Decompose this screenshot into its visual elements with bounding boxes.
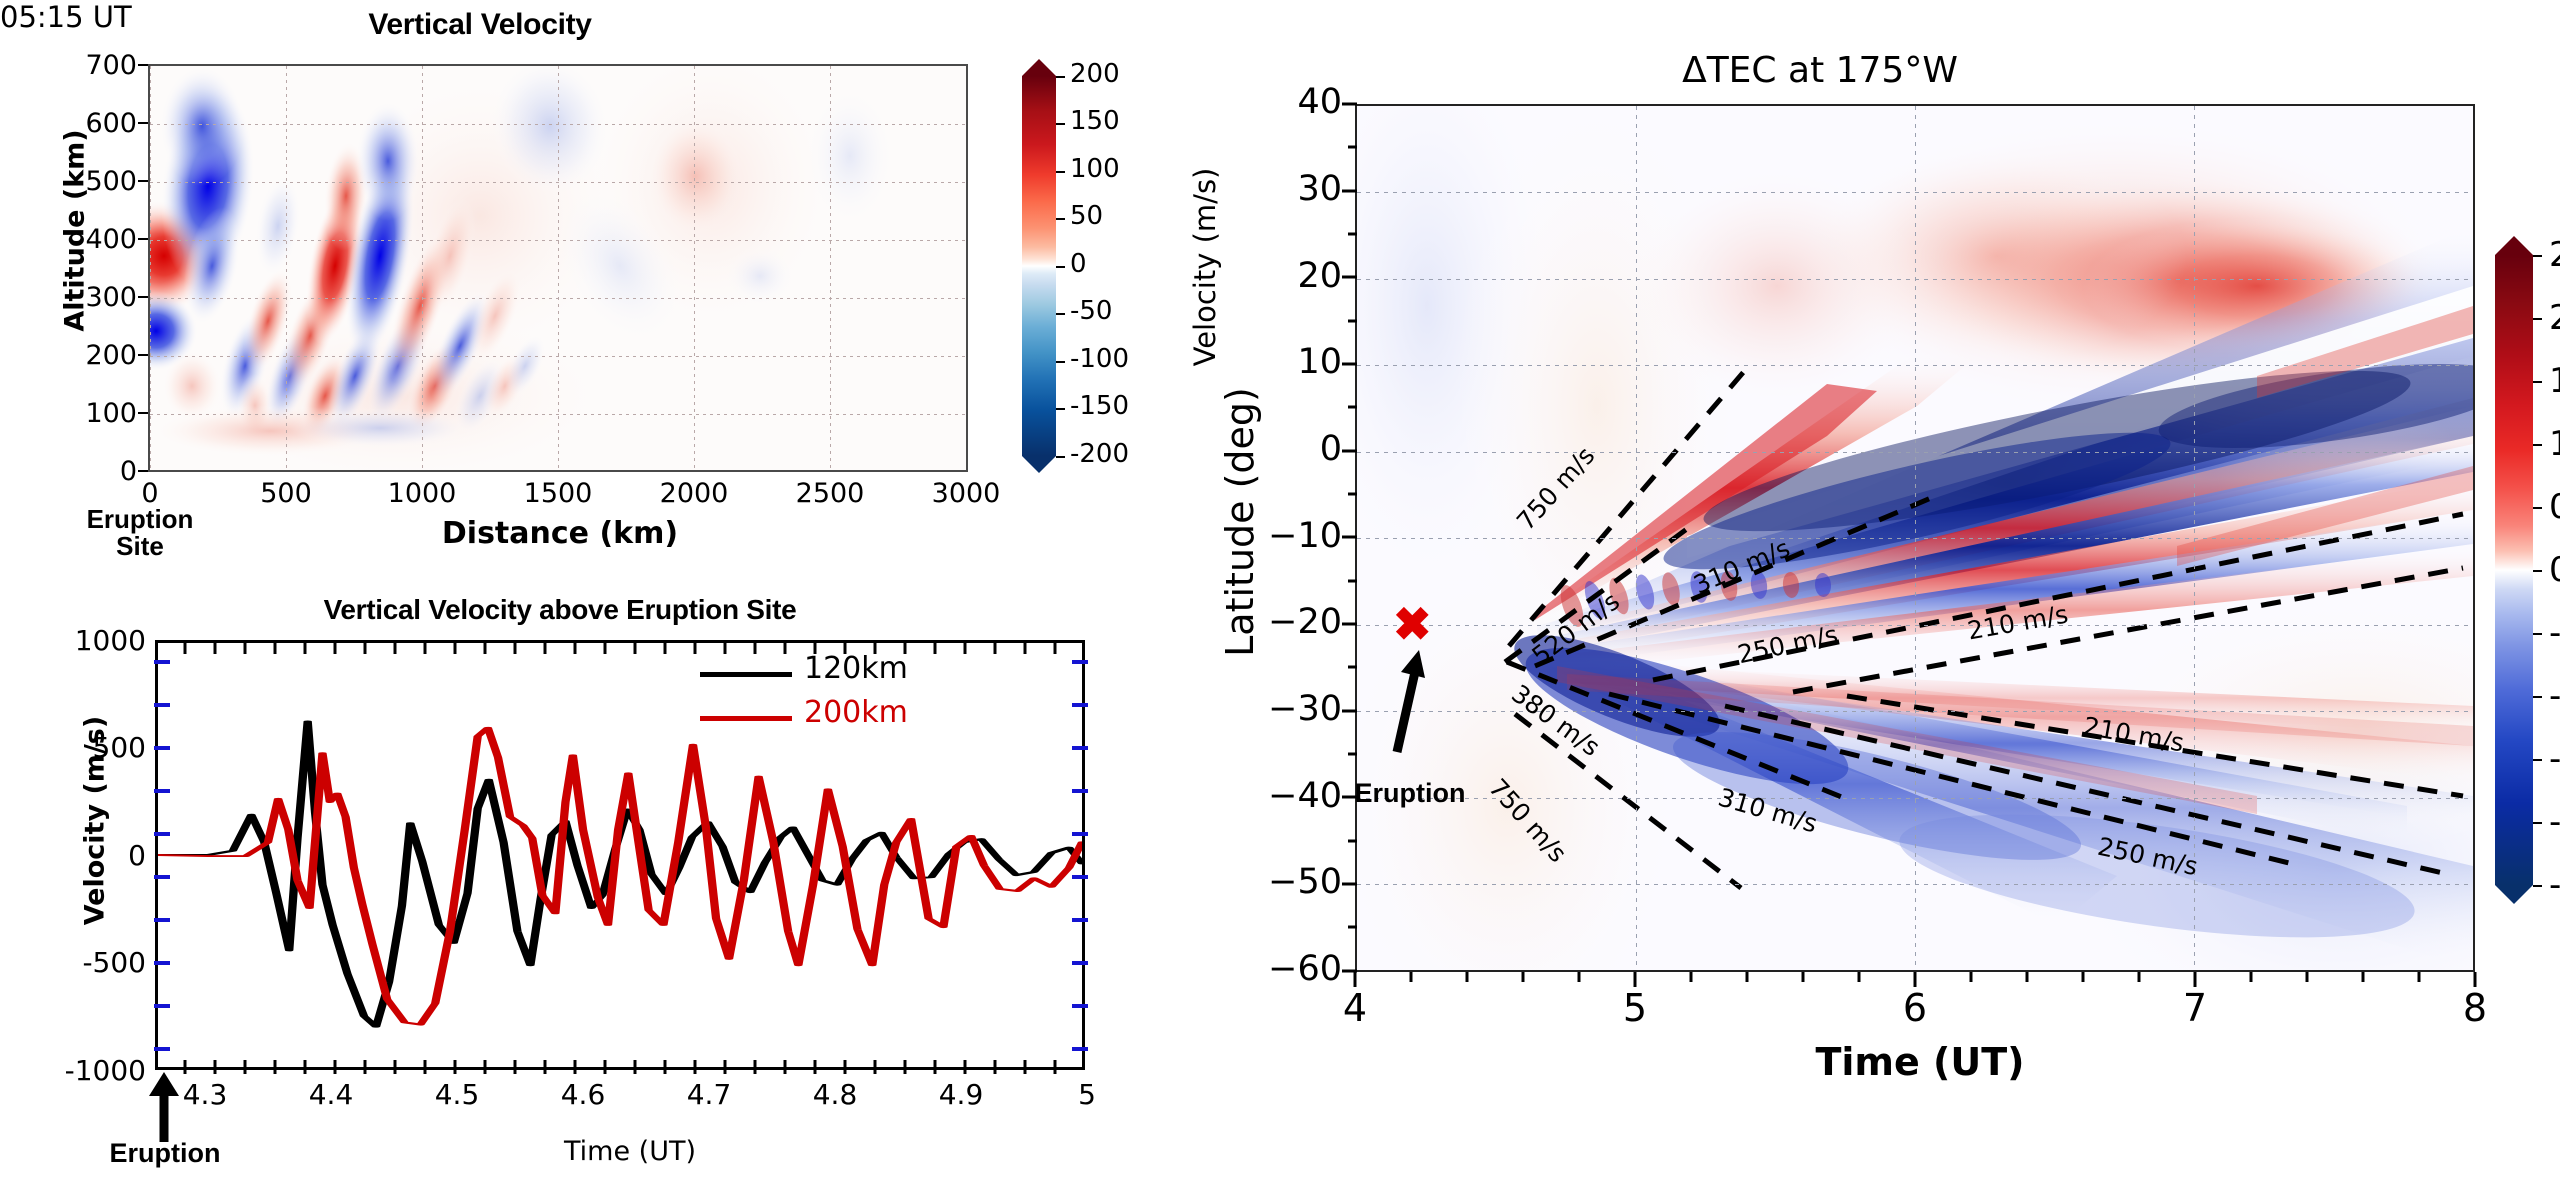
panel-b-xtick: 4.9 bbox=[916, 1078, 1006, 1111]
panel-c-gridline-h bbox=[1357, 538, 2473, 539]
panel-vertical-velocity: Vertical Velocity 05:15 UT bbox=[0, 0, 1120, 600]
panel-b-xtick: 4.7 bbox=[664, 1078, 754, 1111]
panel-a-xtick: 1000 bbox=[377, 478, 467, 509]
panel-c-xtick: 4 bbox=[1305, 986, 1405, 1030]
colorbar-a-tick: 50 bbox=[1070, 201, 1103, 231]
panel-a-xtick: 500 bbox=[241, 478, 331, 509]
panel-a-gridline-h bbox=[150, 240, 966, 241]
panel-b-ytick: -1000 bbox=[18, 1054, 146, 1087]
colorbar-c-cap-bottom bbox=[2495, 885, 2533, 904]
eruption-pointer-arrow-icon bbox=[1379, 646, 1439, 756]
panel-a-ytick-mark bbox=[138, 64, 148, 66]
legend-label-200km: 200km bbox=[804, 695, 908, 730]
panel-c-gridline-h bbox=[1357, 279, 2473, 280]
colorbar-a-tick: -200 bbox=[1070, 439, 1129, 469]
panel-c-y-axis-label: Latitude (deg) bbox=[1218, 322, 1262, 722]
colorbar-a-tick: 100 bbox=[1070, 154, 1120, 184]
panel-b-xtick: 4.6 bbox=[538, 1078, 628, 1111]
colorbar-c-tick: 1.5 bbox=[2549, 361, 2560, 401]
colorbar-c-tick: -0.5 bbox=[2549, 613, 2560, 653]
panel-a-gridline-v bbox=[558, 66, 559, 470]
legend-swatch-120km bbox=[700, 672, 792, 677]
panel-b-xtick: 4.5 bbox=[412, 1078, 502, 1111]
panel-b-x-axis-label: Time (UT) bbox=[450, 1136, 810, 1167]
panel-c-xtick: 6 bbox=[1865, 986, 1965, 1030]
panel-c-gridline-h bbox=[1357, 884, 2473, 885]
panel-c-ytick: 0 bbox=[1190, 429, 1342, 469]
panel-b-xtick: 4.4 bbox=[286, 1078, 376, 1111]
legend-swatch-200km bbox=[700, 716, 792, 721]
panel-c-ytick: 40 bbox=[1190, 82, 1342, 122]
panel-c-ytick: −10 bbox=[1190, 516, 1342, 556]
panel-a-xtick: 2500 bbox=[785, 478, 875, 509]
panel-a-gridline-v bbox=[150, 66, 151, 470]
colorbar-a-tick: -50 bbox=[1070, 296, 1112, 326]
panel-a-y-axis-label: Altitude (km) bbox=[60, 101, 91, 361]
panel-a-ytick: 100 bbox=[42, 398, 137, 429]
panel-a-xtick: 1500 bbox=[513, 478, 603, 509]
colorbar-a-cap-bottom bbox=[1022, 456, 1056, 473]
colorbar-c-tick: -2.5 bbox=[2549, 865, 2560, 905]
colorbar-c-gradient bbox=[2495, 255, 2533, 885]
panel-a-ytick-mark bbox=[138, 238, 148, 240]
colorbar-c-tick: 2.0 bbox=[2549, 298, 2560, 338]
colorbar-a-cap-top bbox=[1022, 59, 1056, 76]
colorbar-a-tick: 200 bbox=[1070, 59, 1120, 89]
panel-c-ytick: 10 bbox=[1190, 342, 1342, 382]
panel-a-gridline-v bbox=[286, 66, 287, 470]
panel-c-y-tick-marks bbox=[1340, 100, 1358, 980]
panel-a-gridline-h bbox=[150, 182, 966, 183]
eruption-site-line1: Eruption bbox=[87, 504, 194, 534]
panel-b-legend: 120km 200km bbox=[700, 652, 950, 740]
panel-a-ytick-mark bbox=[138, 412, 148, 414]
panel-c-ytick: −40 bbox=[1190, 776, 1342, 816]
panel-b-minor-y-ticks bbox=[152, 640, 1092, 1070]
colorbar-c-tick: 2.5 bbox=[2549, 235, 2560, 275]
eruption-marker-icon: ✖ bbox=[1393, 601, 1432, 647]
panel-a-gridline-v bbox=[694, 66, 695, 470]
colorbar-c-tick: 0.0 bbox=[2549, 550, 2560, 590]
colorbar-c-tick: -1.0 bbox=[2549, 676, 2560, 716]
panel-c-ytick: −60 bbox=[1190, 949, 1342, 989]
legend-item-120km: 120km bbox=[700, 652, 950, 696]
panel-c-ytick: 30 bbox=[1190, 169, 1342, 209]
panel-c-ytick: −20 bbox=[1190, 602, 1342, 642]
panel-c-title: ΔTEC at 175°W bbox=[1470, 50, 2170, 91]
panel-a-x-axis-label: Distance (km) bbox=[360, 516, 760, 551]
panel-a-gridline-h bbox=[150, 298, 966, 299]
legend-label-120km: 120km bbox=[804, 651, 908, 686]
panel-a-title: Vertical Velocity bbox=[180, 8, 780, 42]
colorbar-c-cap-top bbox=[2495, 236, 2533, 255]
colorbar-a-tick: 0 bbox=[1070, 249, 1087, 279]
colorbar-c-tick: -2.0 bbox=[2549, 802, 2560, 842]
panel-a-ytick-mark bbox=[138, 122, 148, 124]
panel-a-colorbar: 200 150 100 50 0 -50 -100 -150 -200 bbox=[1022, 76, 1056, 456]
colorbar-a-tick: 150 bbox=[1070, 106, 1120, 136]
panel-c-xtick: 8 bbox=[2425, 986, 2525, 1030]
panel-c-ytick: −50 bbox=[1190, 862, 1342, 902]
panel-b-ytick: 1000 bbox=[18, 624, 146, 657]
panel-c-gridline-h bbox=[1357, 625, 2473, 626]
panel-delta-tec: ΔTEC at 175°W bbox=[1150, 0, 2560, 1200]
panel-a-ytick-mark bbox=[138, 470, 148, 472]
eruption-arrow-icon bbox=[140, 1072, 200, 1144]
panel-c-gridline-h bbox=[1357, 192, 2473, 193]
panel-c-xtick: 7 bbox=[2145, 986, 2245, 1030]
colorbar-a-tick: -150 bbox=[1070, 391, 1129, 421]
panel-b-xtick: 4.8 bbox=[790, 1078, 880, 1111]
panel-a-gridline-h bbox=[150, 414, 966, 415]
panel-a-xtick: 3000 bbox=[921, 478, 1011, 509]
panel-c-colorbar: 2.5 2.0 1.5 1.0 0.5 0.0 -0.5 -1.0 -1.5 -… bbox=[2495, 255, 2533, 885]
panel-a-ytick: 700 bbox=[42, 50, 137, 81]
legend-item-200km: 200km bbox=[700, 696, 950, 740]
colorbar-c-tick: 1.0 bbox=[2549, 424, 2560, 464]
panel-b-y-axis-label: Velocity (m/s) bbox=[80, 661, 111, 981]
panel-velocity-timeseries: Vertical Velocity above Eruption Site bbox=[0, 590, 1120, 1200]
panel-c-ytick: −30 bbox=[1190, 689, 1342, 729]
panel-c-x-axis-label: Time (UT) bbox=[1690, 1040, 2150, 1084]
panel-a-ytick-mark bbox=[138, 296, 148, 298]
panel-a-ytick-mark bbox=[138, 354, 148, 356]
colorbar-a-gradient bbox=[1022, 76, 1056, 456]
panel-a-eruption-site-note: Eruption Site bbox=[55, 506, 225, 561]
panel-c-gridline-h bbox=[1357, 365, 2473, 366]
panel-a-gridline-v bbox=[422, 66, 423, 470]
colorbar-c-tick: -1.5 bbox=[2549, 739, 2560, 779]
panel-c-gridline-h bbox=[1357, 452, 2473, 453]
panel-c-plot-area: ✖ 750 m/s 520 m/s 310 m/s 250 m/s 210 m/… bbox=[1355, 104, 2475, 972]
panel-a-gridline-h bbox=[150, 356, 966, 357]
colorbar-a-tick: -100 bbox=[1070, 344, 1129, 374]
eruption-site-line2: Site bbox=[116, 531, 164, 561]
panel-a-gridline-v bbox=[830, 66, 831, 470]
panel-b-eruption-label: Eruption bbox=[60, 1138, 270, 1169]
colorbar-c-tick: 0.5 bbox=[2549, 487, 2560, 527]
panel-a-gridline-h bbox=[150, 124, 966, 125]
panel-a-plot-area bbox=[148, 64, 968, 472]
panel-a-ytick-mark bbox=[138, 180, 148, 182]
panel-b-title: Vertical Velocity above Eruption Site bbox=[60, 594, 1060, 626]
panel-c-xtick: 5 bbox=[1585, 986, 1685, 1030]
panel-b-xtick: 5 bbox=[1042, 1078, 1132, 1111]
panel-a-xtick: 2000 bbox=[649, 478, 739, 509]
panel-c-ytick: 20 bbox=[1190, 256, 1342, 296]
